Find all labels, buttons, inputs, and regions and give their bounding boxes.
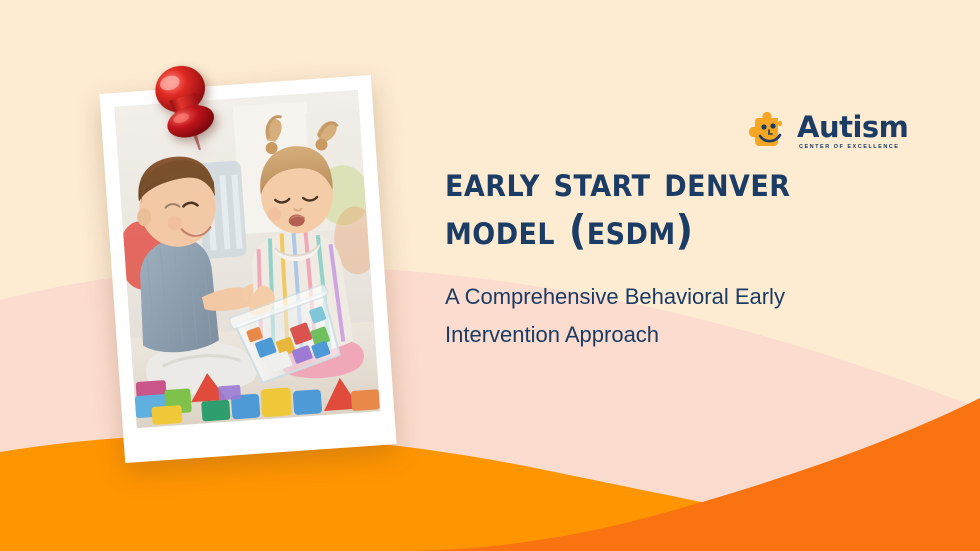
page-title: Early Start Denver Model (ESDM) [445,158,915,254]
logo-name: Autism [797,113,908,142]
slide-canvas: Autism CENTER OF EXCELLENCE Early Start … [0,0,980,551]
title-line-1: Early Start Denver [445,158,882,206]
title-line-2: Model (ESDM) [445,206,882,254]
brand-logo[interactable]: Autism CENTER OF EXCELLENCE [748,106,892,158]
photo-card [99,75,396,463]
photo-frame [114,90,380,428]
page-subtitle: A Comprehensive Behavioral Early Interve… [445,278,865,354]
puzzle-smiley-icon [748,112,790,152]
children-playing-photo [114,90,380,428]
logo-tagline: CENTER OF EXCELLENCE [799,145,908,151]
logo-wordmark: Autism CENTER OF EXCELLENCE [797,113,908,151]
